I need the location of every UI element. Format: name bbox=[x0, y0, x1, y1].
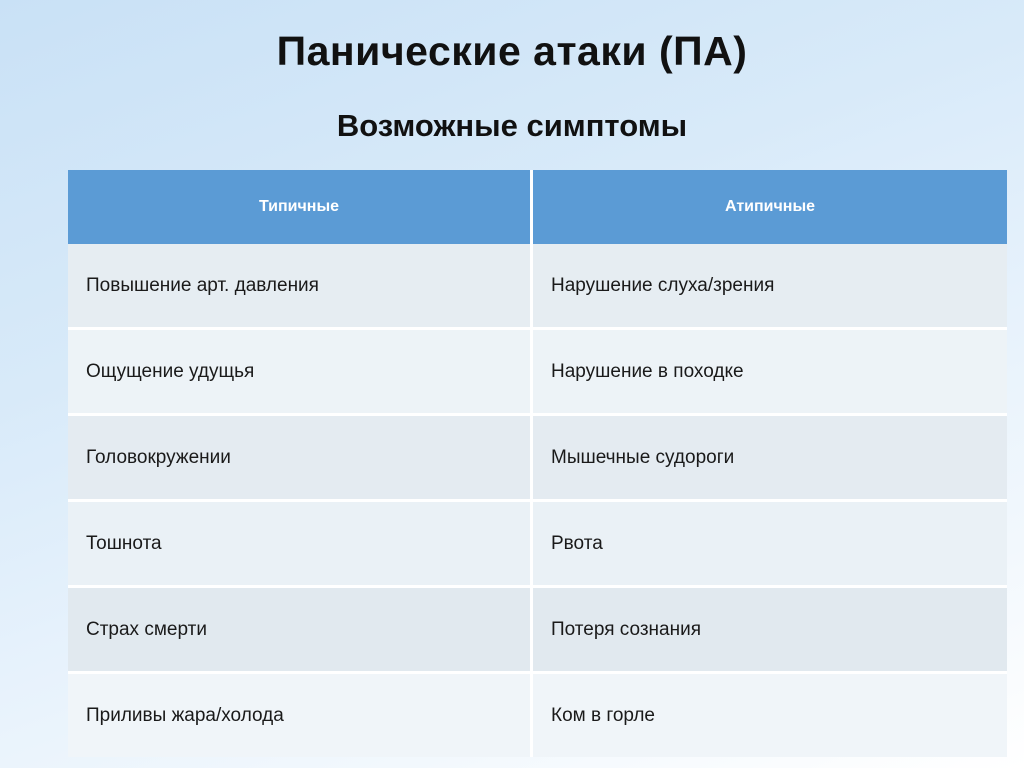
table-header: Типичные Атипичные bbox=[68, 170, 1007, 244]
table-cell-typical: Повышение арт. давления bbox=[68, 244, 532, 329]
table-cell-typical: Тошнота bbox=[68, 501, 532, 587]
table-cell-atypical: Нарушение в походке bbox=[532, 329, 1008, 415]
symptoms-table-container: Типичные Атипичные Повышение арт. давлен… bbox=[68, 170, 1000, 757]
slide: Панические атаки (ПА) Возможные симптомы… bbox=[0, 0, 1024, 768]
table-row: Тошнота Рвота bbox=[68, 501, 1007, 587]
table-header-row: Типичные Атипичные bbox=[68, 170, 1007, 244]
page-subtitle: Возможные симптомы bbox=[0, 108, 1024, 144]
table-cell-typical: Приливы жара/холода bbox=[68, 673, 532, 758]
table-row: Страх смерти Потеря сознания bbox=[68, 587, 1007, 673]
table-cell-typical: Страх смерти bbox=[68, 587, 532, 673]
table-cell-typical: Ощущение удущья bbox=[68, 329, 532, 415]
table-row: Головокружении Мышечные судороги bbox=[68, 415, 1007, 501]
column-header-atypical: Атипичные bbox=[532, 170, 1008, 244]
table-row: Приливы жара/холода Ком в горле bbox=[68, 673, 1007, 758]
table-cell-atypical: Потеря сознания bbox=[532, 587, 1008, 673]
table-body: Повышение арт. давления Нарушение слуха/… bbox=[68, 244, 1007, 757]
table-cell-atypical: Нарушение слуха/зрения bbox=[532, 244, 1008, 329]
column-header-typical: Типичные bbox=[68, 170, 532, 244]
table-row: Ощущение удущья Нарушение в походке bbox=[68, 329, 1007, 415]
table-cell-typical: Головокружении bbox=[68, 415, 532, 501]
symptoms-table: Типичные Атипичные Повышение арт. давлен… bbox=[68, 170, 1007, 757]
table-row: Повышение арт. давления Нарушение слуха/… bbox=[68, 244, 1007, 329]
table-cell-atypical: Мышечные судороги bbox=[532, 415, 1008, 501]
table-cell-atypical: Ком в горле bbox=[532, 673, 1008, 758]
page-title: Панические атаки (ПА) bbox=[0, 28, 1024, 75]
table-cell-atypical: Рвота bbox=[532, 501, 1008, 587]
